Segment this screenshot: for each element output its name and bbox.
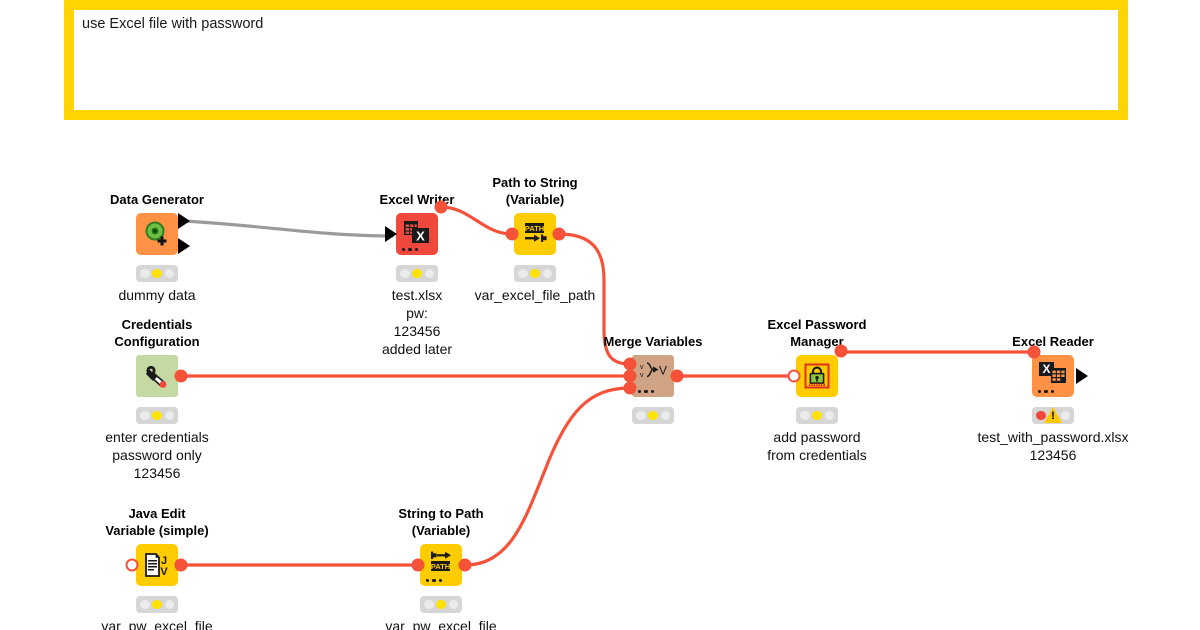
status-lamp-off-right: [825, 411, 835, 421]
status-excel-writer: [396, 265, 438, 282]
node-label-excel-password-manager: add password from credentials: [767, 429, 867, 465]
status-lamp-yellow: [812, 411, 822, 421]
status-lamp-off-left: [518, 269, 528, 279]
status-lamp-off-right: [165, 269, 175, 279]
annotation-text: use Excel file with password: [82, 15, 1110, 34]
node-title-credentials-configuration: Credentials Configuration: [114, 316, 199, 351]
status-lamp-off-left: [636, 411, 646, 421]
node-label-excel-reader: test_with_password.xlsx 123456: [978, 429, 1129, 465]
status-excel-password-manager: [796, 407, 838, 424]
output-port-variable-credentials[interactable]: [175, 370, 188, 383]
status-lamp-off-right: [543, 269, 553, 279]
node-title-merge-variables: Merge Variables: [604, 333, 703, 351]
svg-text:V: V: [659, 364, 667, 378]
output-port-table-1[interactable]: [178, 213, 190, 229]
node-path-to-string-variable[interactable]: Path to String (Variable) PATH var_excel…: [514, 213, 556, 255]
node-title-java-edit-variable: Java Edit Variable (simple): [105, 505, 208, 540]
node-label-string-to-path: var_pw_excel_file: [385, 618, 496, 630]
output-port-variable-excel-password-manager[interactable]: [835, 345, 848, 358]
wire-datagen-to-excelwriter: [183, 221, 393, 236]
input-port-variable-excel-reader[interactable]: [1028, 346, 1041, 359]
node-title-excel-reader: Excel Reader: [1012, 333, 1094, 351]
node-excel-writer[interactable]: Excel Writer X: [396, 213, 438, 255]
workflow-canvas: use Excel file with password Data Genera…: [0, 0, 1200, 630]
status-java-edit-variable: [136, 596, 178, 613]
status-lamp-yellow: [152, 411, 162, 421]
status-credentials-configuration: [136, 407, 178, 424]
node-excel-password-manager[interactable]: Excel Password Manager: [796, 355, 838, 397]
wire-stringtopath-to-merge: [465, 388, 630, 565]
output-port-variable-string-to-path[interactable]: [459, 559, 472, 572]
node-title-excel-password-manager: Excel Password Manager: [768, 316, 867, 351]
node-dots-excel-reader: [1038, 390, 1054, 393]
output-port-table-2[interactable]: [178, 238, 190, 254]
status-lamp-off-left: [140, 600, 150, 610]
input-port-variable-path-to-string[interactable]: [506, 228, 519, 241]
svg-text:V: V: [160, 566, 168, 578]
node-credentials-configuration[interactable]: Credentials Configuration enter credenti…: [136, 355, 178, 397]
status-lamp-off-left: [424, 600, 434, 610]
node-label-java-edit-variable: var_pw_excel_file: [101, 618, 212, 630]
output-port-variable-excel-writer[interactable]: [435, 201, 448, 214]
status-excel-reader: !: [1032, 407, 1074, 424]
input-port-variable-java-edit[interactable]: [126, 559, 139, 572]
status-lamp-off-right: [449, 600, 459, 610]
status-merge-variables: [632, 407, 674, 424]
node-label-path-to-string: var_excel_file_path: [475, 287, 596, 305]
data-generator-icon: [136, 213, 178, 255]
svg-text:PATH: PATH: [431, 562, 451, 571]
status-lamp-off-right: [425, 269, 435, 279]
node-body-merge-variables[interactable]: v v V: [632, 355, 674, 397]
input-port-variable-merge-3[interactable]: [624, 382, 637, 395]
status-data-generator: [136, 265, 178, 282]
status-lamp-yellow: [412, 269, 422, 279]
status-lamp-off-left: [400, 269, 410, 279]
svg-text:PATH: PATH: [525, 224, 545, 233]
node-body-string-to-path[interactable]: PATH: [420, 544, 462, 586]
node-dots-merge-variables: [638, 390, 654, 393]
output-port-table-excel-reader[interactable]: [1076, 368, 1088, 384]
svg-text:X: X: [1042, 362, 1050, 376]
status-lamp-off-right: [165, 600, 175, 610]
java-edit-variable-icon: J V: [136, 544, 178, 586]
node-string-to-path-variable[interactable]: String to Path (Variable) PATH: [420, 544, 462, 586]
status-lamp-yellow: [648, 411, 658, 421]
node-body-excel-reader[interactable]: X: [1032, 355, 1074, 397]
node-body-excel-writer[interactable]: X: [396, 213, 438, 255]
output-port-variable-merge[interactable]: [671, 370, 684, 383]
node-label-credentials-configuration: enter credentials password only 123456: [105, 429, 209, 483]
node-body-java-edit-variable[interactable]: J V: [136, 544, 178, 586]
status-lamp-yellow: [152, 269, 162, 279]
status-lamp-off-left: [140, 269, 150, 279]
annotation-body[interactable]: use Excel file with password: [74, 10, 1118, 110]
svg-text:X: X: [416, 228, 425, 243]
status-lamp-off-right: [165, 411, 175, 421]
status-string-to-path: [420, 596, 462, 613]
input-port-variable-string-to-path[interactable]: [412, 559, 425, 572]
warning-icon: !: [1043, 407, 1063, 425]
output-port-variable-java-edit[interactable]: [175, 559, 188, 572]
wire-excelwriter-to-pathtostring: [441, 207, 512, 234]
status-lamp-yellow: [530, 269, 540, 279]
path-to-string-icon: PATH: [514, 213, 556, 255]
padlock-icon: [796, 355, 838, 397]
status-lamp-off-left: [800, 411, 810, 421]
node-body-data-generator[interactable]: [136, 213, 178, 255]
output-port-variable-path-to-string[interactable]: [553, 228, 566, 241]
node-title-path-to-string: Path to String (Variable): [492, 174, 577, 209]
credentials-icon: [136, 355, 178, 397]
input-port-table-excel-writer[interactable]: [385, 226, 397, 242]
node-body-credentials-configuration[interactable]: [136, 355, 178, 397]
node-label-data-generator: dummy data: [118, 287, 195, 305]
node-dots-excel-writer: [402, 248, 418, 251]
input-port-variable-excel-password-manager[interactable]: [788, 370, 801, 383]
node-body-path-to-string[interactable]: PATH: [514, 213, 556, 255]
node-java-edit-variable-simple[interactable]: Java Edit Variable (simple) J V: [136, 544, 178, 586]
node-data-generator[interactable]: Data Generator dummy data: [136, 213, 178, 255]
node-excel-reader[interactable]: Excel Reader X: [1032, 355, 1074, 397]
status-lamp-yellow: [436, 600, 446, 610]
svg-text:v: v: [640, 372, 644, 379]
node-merge-variables[interactable]: Merge Variables v v V: [632, 355, 674, 397]
node-dots-string-to-path: [426, 579, 442, 582]
node-label-excel-writer: test.xlsx pw: 123456 added later: [382, 287, 452, 359]
node-title-data-generator: Data Generator: [110, 191, 204, 209]
status-path-to-string: [514, 265, 556, 282]
node-title-string-to-path: String to Path (Variable): [398, 505, 483, 540]
node-body-excel-password-manager[interactable]: [796, 355, 838, 397]
svg-text:v: v: [640, 364, 644, 371]
workflow-annotation[interactable]: use Excel file with password: [64, 0, 1128, 120]
status-lamp-yellow: [152, 600, 162, 610]
status-lamp-off-right: [661, 411, 671, 421]
status-lamp-off-left: [140, 411, 150, 421]
